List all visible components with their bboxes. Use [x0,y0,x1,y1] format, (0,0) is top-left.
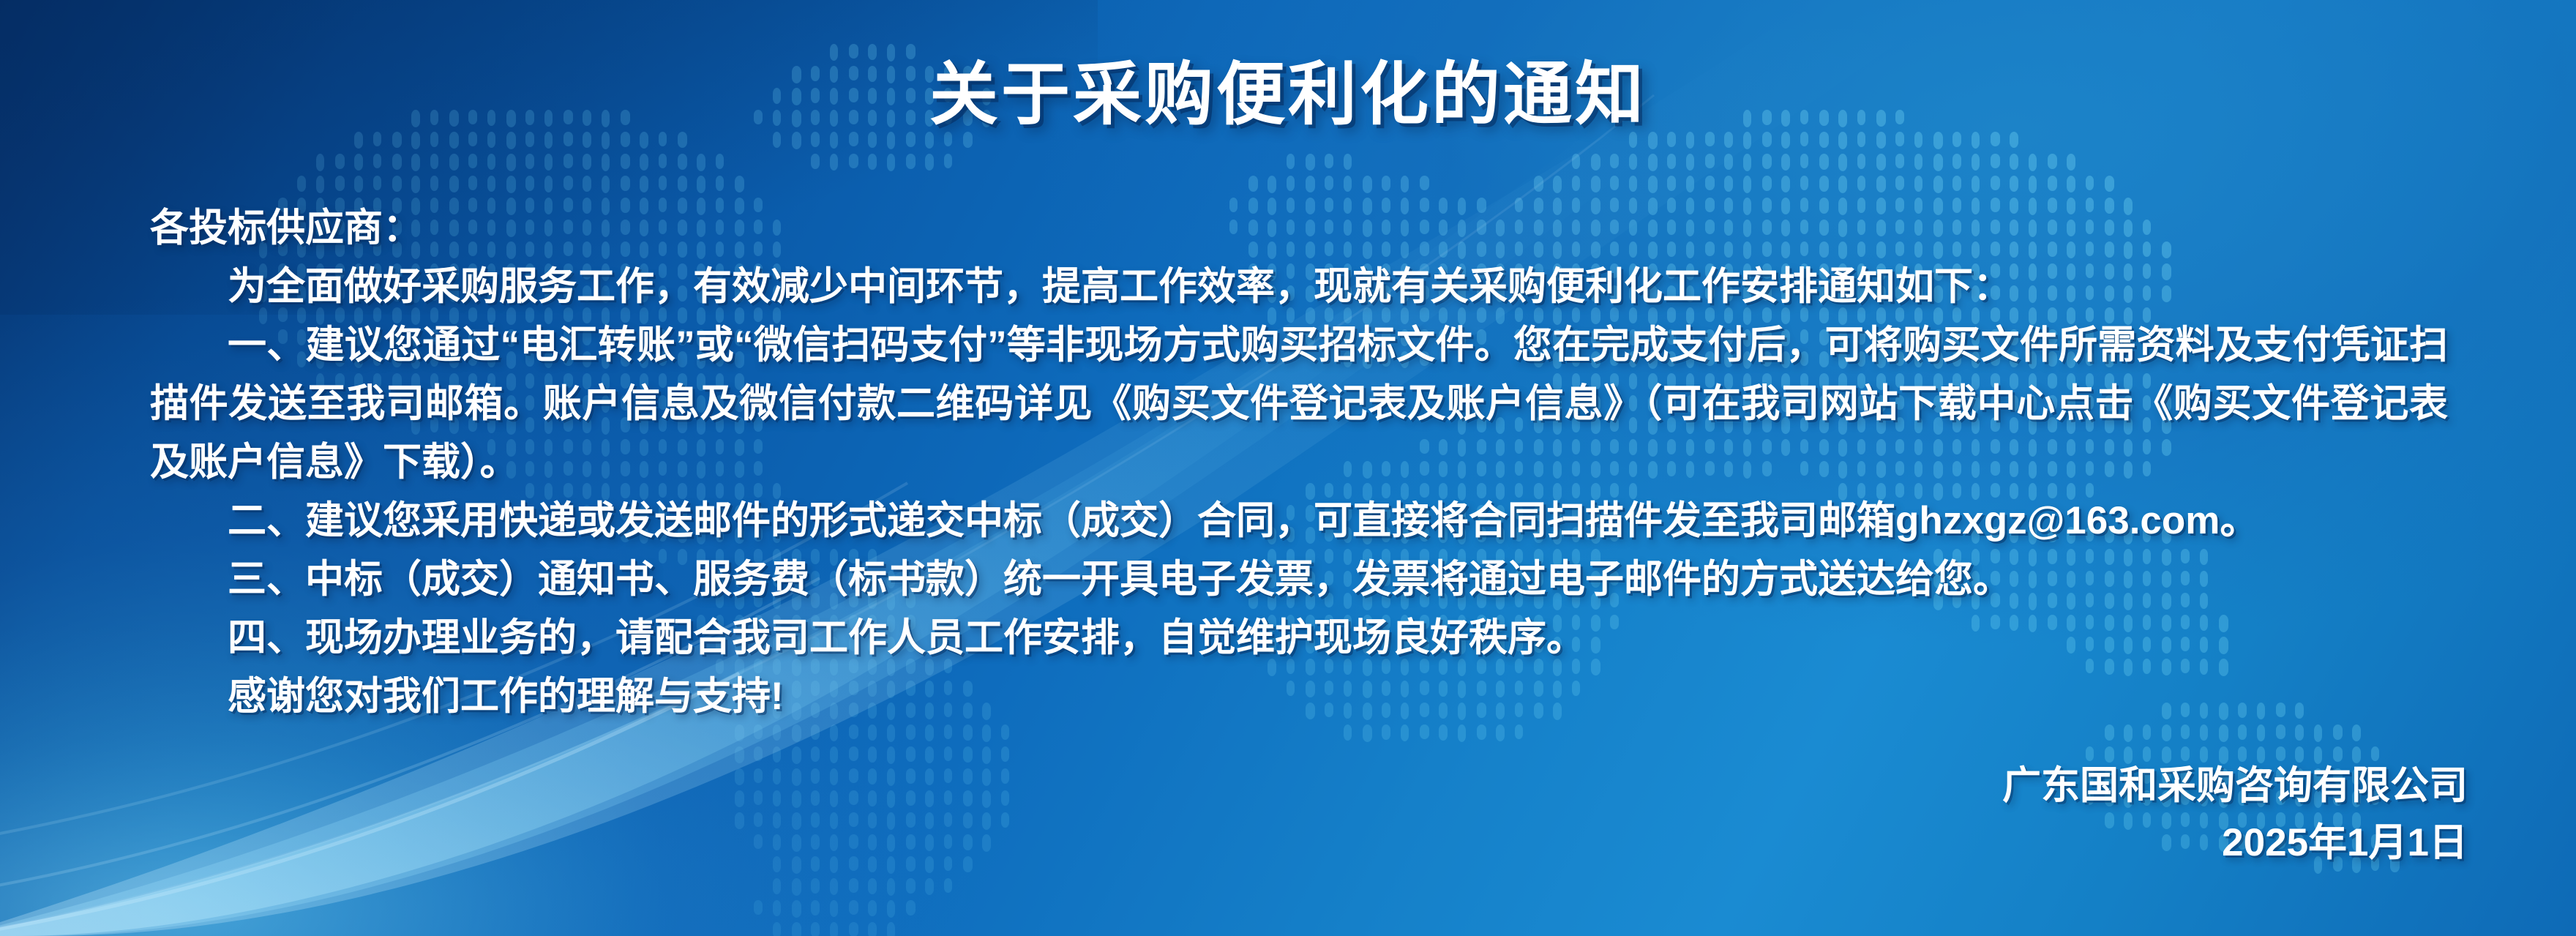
banner-content: 关于采购便利化的通知 各投标供应商： 为全面做好采购服务工作，有效减少中间环节，… [0,0,2576,936]
notice-paragraph-item-1: 一、建议您通过“电汇转账”或“微信扫码支付”等非现场方式购买招标文件。您在完成支… [150,316,2448,492]
notice-body: 各投标供应商： 为全面做好采购服务工作，有效减少中间环节，提高工作效率，现就有关… [150,199,2448,726]
notice-paragraph-item-3: 三、中标（成交）通知书、服务费（标书款）统一开具电子发票，发票将通过电子邮件的方… [150,550,2448,609]
notice-closing-thanks: 感谢您对我们工作的理解与支持! [150,667,2448,726]
page-title: 关于采购便利化的通知 [0,60,2576,129]
signature-block: 广东国和采购咨询有限公司 2025年1月1日 [1443,757,2468,872]
notice-paragraph-item-4: 四、现场办理业务的，请配合我司工作人员工作安排，自觉维护现场良好秩序。 [150,609,2448,667]
signature-date: 2025年1月1日 [1443,815,2468,872]
salutation: 各投标供应商： [150,199,2448,258]
notice-banner: 关于采购便利化的通知 各投标供应商： 为全面做好采购服务工作，有效减少中间环节，… [0,0,2576,936]
notice-paragraph-item-2: 二、建议您采用快递或发送邮件的形式递交中标（成交）合同，可直接将合同扫描件发至我… [150,492,2448,550]
signature-company: 广东国和采购咨询有限公司 [1443,757,2468,815]
notice-paragraph-intro: 为全面做好采购服务工作，有效减少中间环节，提高工作效率，现就有关采购便利化工作安… [150,258,2448,316]
